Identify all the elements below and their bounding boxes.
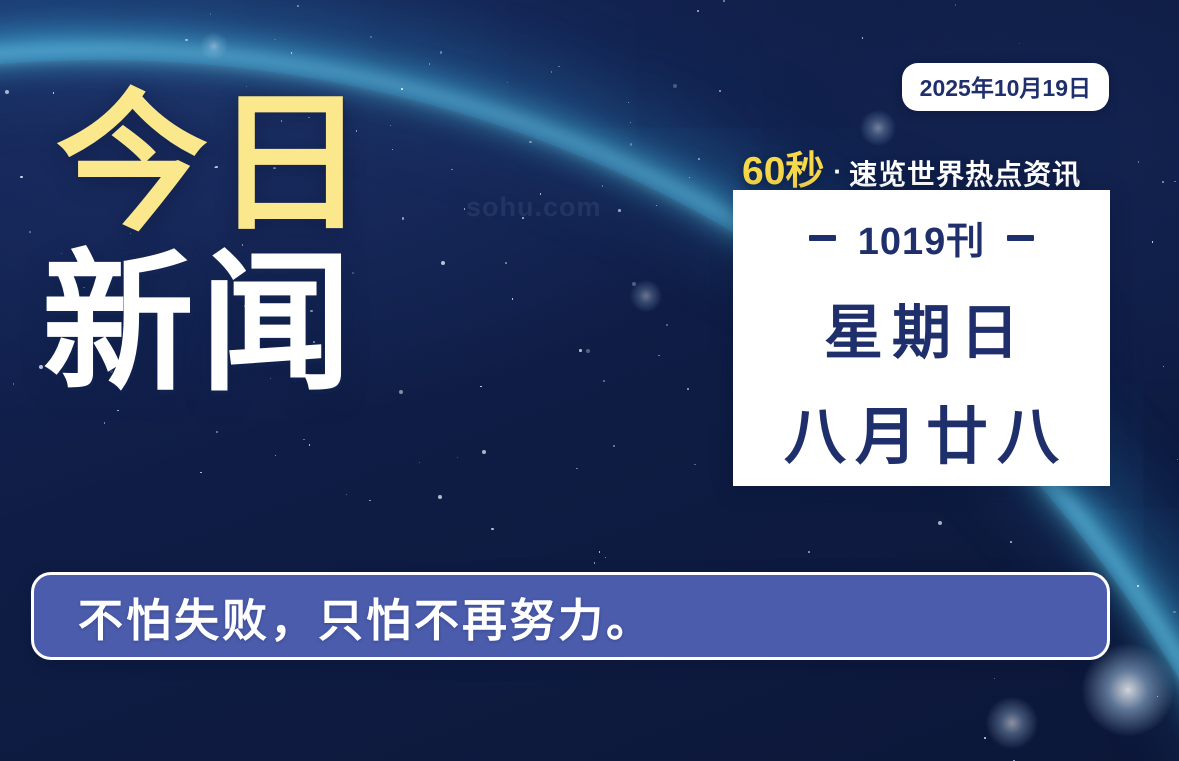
news-poster-canvas: sohu.com 今日 新闻 2025年10月19日 60秒 · 速览世界热点资… xyxy=(0,0,1179,761)
title-line-jinri: 今日 xyxy=(56,92,372,238)
title-line-xinwen: 新闻 xyxy=(42,252,372,398)
lunar-date-label: 八月廿八 xyxy=(775,386,1068,476)
issue-number: 1019刊 xyxy=(858,210,986,265)
quote-banner: 不怕失败，只怕不再努力。 xyxy=(31,572,1110,660)
issue-info-card: 1019刊 星期日 八月廿八 xyxy=(733,190,1110,486)
tagline-text: 速览世界热点资讯 xyxy=(849,153,1081,193)
tagline-separator-dot: · xyxy=(833,156,842,187)
quote-text: 不怕失败，只怕不再努力。 xyxy=(78,584,654,649)
date-badge: 2025年10月19日 xyxy=(902,63,1109,111)
dash-left-icon xyxy=(809,235,836,241)
weekday-label: 星期日 xyxy=(815,285,1028,370)
tagline: 60秒 · 速览世界热点资讯 xyxy=(742,140,1081,196)
dash-right-icon xyxy=(1007,235,1034,241)
tagline-highlight: 60秒 xyxy=(742,140,824,196)
page-title: 今日 新闻 xyxy=(56,92,372,398)
issue-number-row: 1019刊 xyxy=(809,210,1035,265)
